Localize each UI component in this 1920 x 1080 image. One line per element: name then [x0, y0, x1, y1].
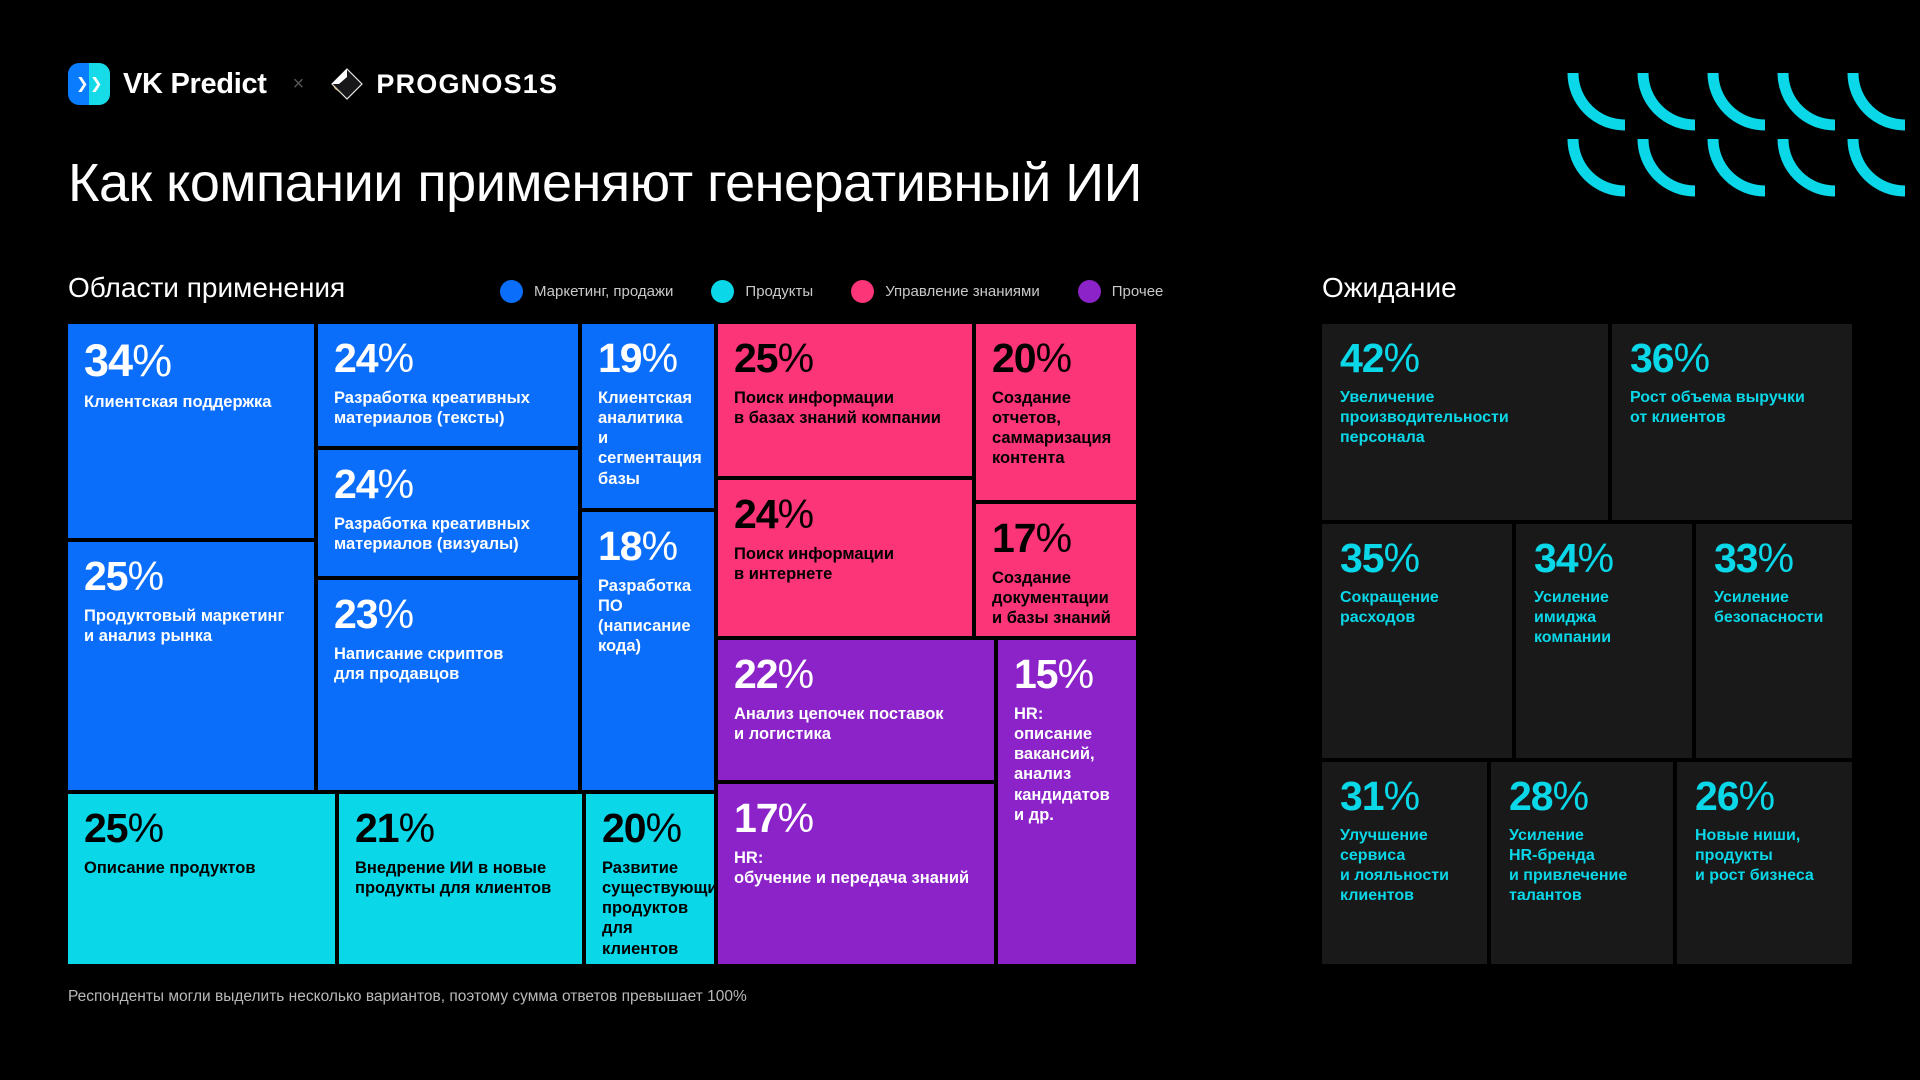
- legend-dot-products: [711, 280, 734, 303]
- cell-label: Разработка ПО(написание кода): [598, 576, 698, 657]
- cell-value: 23%: [334, 594, 562, 635]
- vk-logo-icon: ❯❯: [68, 63, 110, 105]
- treemap-cell-documentation[interactable]: 17% Созданиедокументациии базы знаний: [976, 504, 1136, 636]
- cell-label: Разработка креативныхматериалов (визуалы…: [334, 514, 562, 554]
- prognosis-logo: PROGNOS1S: [330, 67, 558, 101]
- cell-label: Написание скриптовдля продавцов: [334, 644, 562, 684]
- cell-label: Поиск информациив базах знаний компании: [734, 388, 956, 428]
- treemap-cell-software-dev[interactable]: 18% Разработка ПО(написание кода): [582, 512, 714, 790]
- cell-value: 31%: [1340, 776, 1469, 817]
- legend-label-marketing: Маркетинг, продажи: [534, 283, 673, 300]
- treemap-cell-supply-chain[interactable]: 22% Анализ цепочек поставоки логистика: [718, 640, 994, 780]
- treemap-cell-existing-products[interactable]: 20% Развитиесуществующихпродуктов длякли…: [586, 794, 714, 964]
- expectation-cell-cost-reduction[interactable]: 35% Сокращениерасходов: [1322, 524, 1512, 758]
- prognosis-diamond-icon: [330, 67, 364, 101]
- cell-value: 33%: [1714, 538, 1834, 579]
- infographic-page: ❯❯ VK Predict × PROGNOS1S Как компании п…: [0, 0, 1920, 1080]
- legend-dot-marketing: [500, 280, 523, 303]
- legend-label-products: Продукты: [745, 283, 813, 300]
- cell-label: Рост объема выручкиот клиентов: [1630, 388, 1834, 428]
- vk-predict-logo: ❯❯ VK Predict: [68, 63, 267, 105]
- legend: Маркетинг, продажи Продукты Управление з…: [500, 280, 1163, 303]
- cell-label: Разработка креативныхматериалов (тексты): [334, 388, 562, 428]
- expectation-grid: 42% Увеличениепроизводительностиперсонал…: [1322, 324, 1852, 964]
- expectation-cell-service-loyalty[interactable]: 31% Улучшениесервисаи лояльностиклиентов: [1322, 762, 1487, 964]
- vk-predict-label: VK Predict: [123, 68, 267, 101]
- cell-value: 17%: [992, 518, 1120, 559]
- cell-value: 20%: [992, 338, 1120, 379]
- cell-value: 35%: [1340, 538, 1494, 579]
- cell-label: Сокращениерасходов: [1340, 588, 1494, 628]
- cell-value: 22%: [734, 654, 978, 695]
- legend-item-knowledge[interactable]: Управление знаниями: [851, 280, 1040, 303]
- cell-value: 26%: [1695, 776, 1834, 817]
- cell-label: Увеличениепроизводительностиперсонала: [1340, 388, 1590, 448]
- legend-dot-other: [1078, 280, 1101, 303]
- footnote: Респонденты могли выделить несколько вар…: [68, 988, 747, 1006]
- legend-label-knowledge: Управление знаниями: [885, 283, 1040, 300]
- expectation-cell-security[interactable]: 33% Усилениебезопасности: [1696, 524, 1852, 758]
- cell-value: 25%: [84, 808, 319, 849]
- cell-value: 28%: [1509, 776, 1655, 817]
- cell-value: 42%: [1340, 338, 1590, 379]
- brand-bar: ❯❯ VK Predict × PROGNOS1S: [68, 63, 558, 105]
- cell-label: Усиление имиджакомпании: [1534, 588, 1674, 648]
- cell-label: Внедрение ИИ в новыепродукты для клиенто…: [355, 858, 566, 898]
- legend-item-marketing[interactable]: Маркетинг, продажи: [500, 280, 673, 303]
- treemap-cell-ai-new-products[interactable]: 21% Внедрение ИИ в новыепродукты для кли…: [339, 794, 582, 964]
- prognosis-label: PROGNOS1S: [376, 69, 558, 100]
- treemap-cell-creative-visuals[interactable]: 24% Разработка креативныхматериалов (виз…: [318, 450, 578, 576]
- cell-value: 17%: [734, 798, 978, 839]
- page-title: Как компании применяют генеративный ИИ: [68, 152, 1142, 214]
- section-heading-expectation: Ожидание: [1322, 272, 1457, 304]
- cell-value: 25%: [734, 338, 956, 379]
- cell-value: 20%: [602, 808, 698, 849]
- cell-label: Клиентскаяаналитикаи сегментациябазы: [598, 388, 698, 489]
- treemap-applications: 34% Клиентская поддержка 25% Продуктовый…: [68, 324, 1271, 964]
- treemap-cell-sales-scripts[interactable]: 23% Написание скриптовдля продавцов: [318, 580, 578, 790]
- expectation-cell-productivity[interactable]: 42% Увеличениепроизводительностиперсонал…: [1322, 324, 1608, 520]
- legend-item-other[interactable]: Прочее: [1078, 280, 1164, 303]
- section-heading-applications: Области применения: [68, 272, 345, 304]
- cell-value: 34%: [1534, 538, 1674, 579]
- cell-value: 19%: [598, 338, 698, 379]
- treemap-cell-hr-vacancies[interactable]: 15% HR:описаниевакансий,анализкандидатов…: [998, 640, 1136, 964]
- treemap-cell-search-kb[interactable]: 25% Поиск информациив базах знаний компа…: [718, 324, 972, 476]
- expectation-cell-company-image[interactable]: 34% Усиление имиджакомпании: [1516, 524, 1692, 758]
- cell-label: HR:обучение и передача знаний: [734, 848, 978, 888]
- cell-label: Клиентская поддержка: [84, 392, 298, 412]
- expectation-cell-hr-brand[interactable]: 28% УсилениеHR-брендаи привлечениеталант…: [1491, 762, 1673, 964]
- cell-value: 24%: [734, 494, 956, 535]
- cell-label: Продуктовый маркетинги анализ рынка: [84, 606, 298, 646]
- treemap-cell-creative-texts[interactable]: 24% Разработка креативныхматериалов (тек…: [318, 324, 578, 446]
- treemap-cell-reports-summarization[interactable]: 20% Создание отчетов,саммаризацияконтент…: [976, 324, 1136, 500]
- legend-item-products[interactable]: Продукты: [711, 280, 813, 303]
- treemap-cell-client-analytics[interactable]: 19% Клиентскаяаналитикаи сегментациябазы: [582, 324, 714, 508]
- cell-value: 24%: [334, 338, 562, 379]
- cell-label: УсилениеHR-брендаи привлечениеталантов: [1509, 826, 1655, 906]
- expectation-cell-new-niches[interactable]: 26% Новые ниши,продуктыи рост бизнеса: [1677, 762, 1852, 964]
- cell-value: 36%: [1630, 338, 1834, 379]
- treemap-cell-client-support[interactable]: 34% Клиентская поддержка: [68, 324, 314, 538]
- treemap-cell-product-description[interactable]: 25% Описание продуктов: [68, 794, 335, 964]
- expectation-cell-revenue[interactable]: 36% Рост объема выручкиот клиентов: [1612, 324, 1852, 520]
- cell-label: Создание отчетов,саммаризацияконтента: [992, 388, 1120, 469]
- cell-label: Созданиедокументациии базы знаний: [992, 568, 1120, 628]
- cell-value: 25%: [84, 556, 298, 597]
- treemap-cell-search-internet[interactable]: 24% Поиск информациив интернете: [718, 480, 972, 636]
- decorative-arcs: [1560, 56, 1920, 206]
- cell-label: Новые ниши,продуктыи рост бизнеса: [1695, 826, 1834, 886]
- cell-label: Описание продуктов: [84, 858, 319, 878]
- cell-label: Развитиесуществующихпродуктов дляклиенто…: [602, 858, 698, 959]
- cell-label: Улучшениесервисаи лояльностиклиентов: [1340, 826, 1469, 906]
- brand-separator-icon: ×: [293, 73, 305, 96]
- treemap-cell-product-marketing[interactable]: 25% Продуктовый маркетинги анализ рынка: [68, 542, 314, 790]
- cell-value: 21%: [355, 808, 566, 849]
- cell-value: 34%: [84, 338, 298, 383]
- cell-label: Поиск информациив интернете: [734, 544, 956, 584]
- cell-value: 24%: [334, 464, 562, 505]
- legend-dot-knowledge: [851, 280, 874, 303]
- cell-label: HR:описаниевакансий,анализкандидатови др…: [1014, 704, 1120, 825]
- legend-label-other: Прочее: [1112, 283, 1164, 300]
- cell-value: 15%: [1014, 654, 1120, 695]
- treemap-cell-hr-training[interactable]: 17% HR:обучение и передача знаний: [718, 784, 994, 964]
- cell-label: Анализ цепочек поставоки логистика: [734, 704, 978, 744]
- cell-label: Усилениебезопасности: [1714, 588, 1834, 628]
- cell-value: 18%: [598, 526, 698, 567]
